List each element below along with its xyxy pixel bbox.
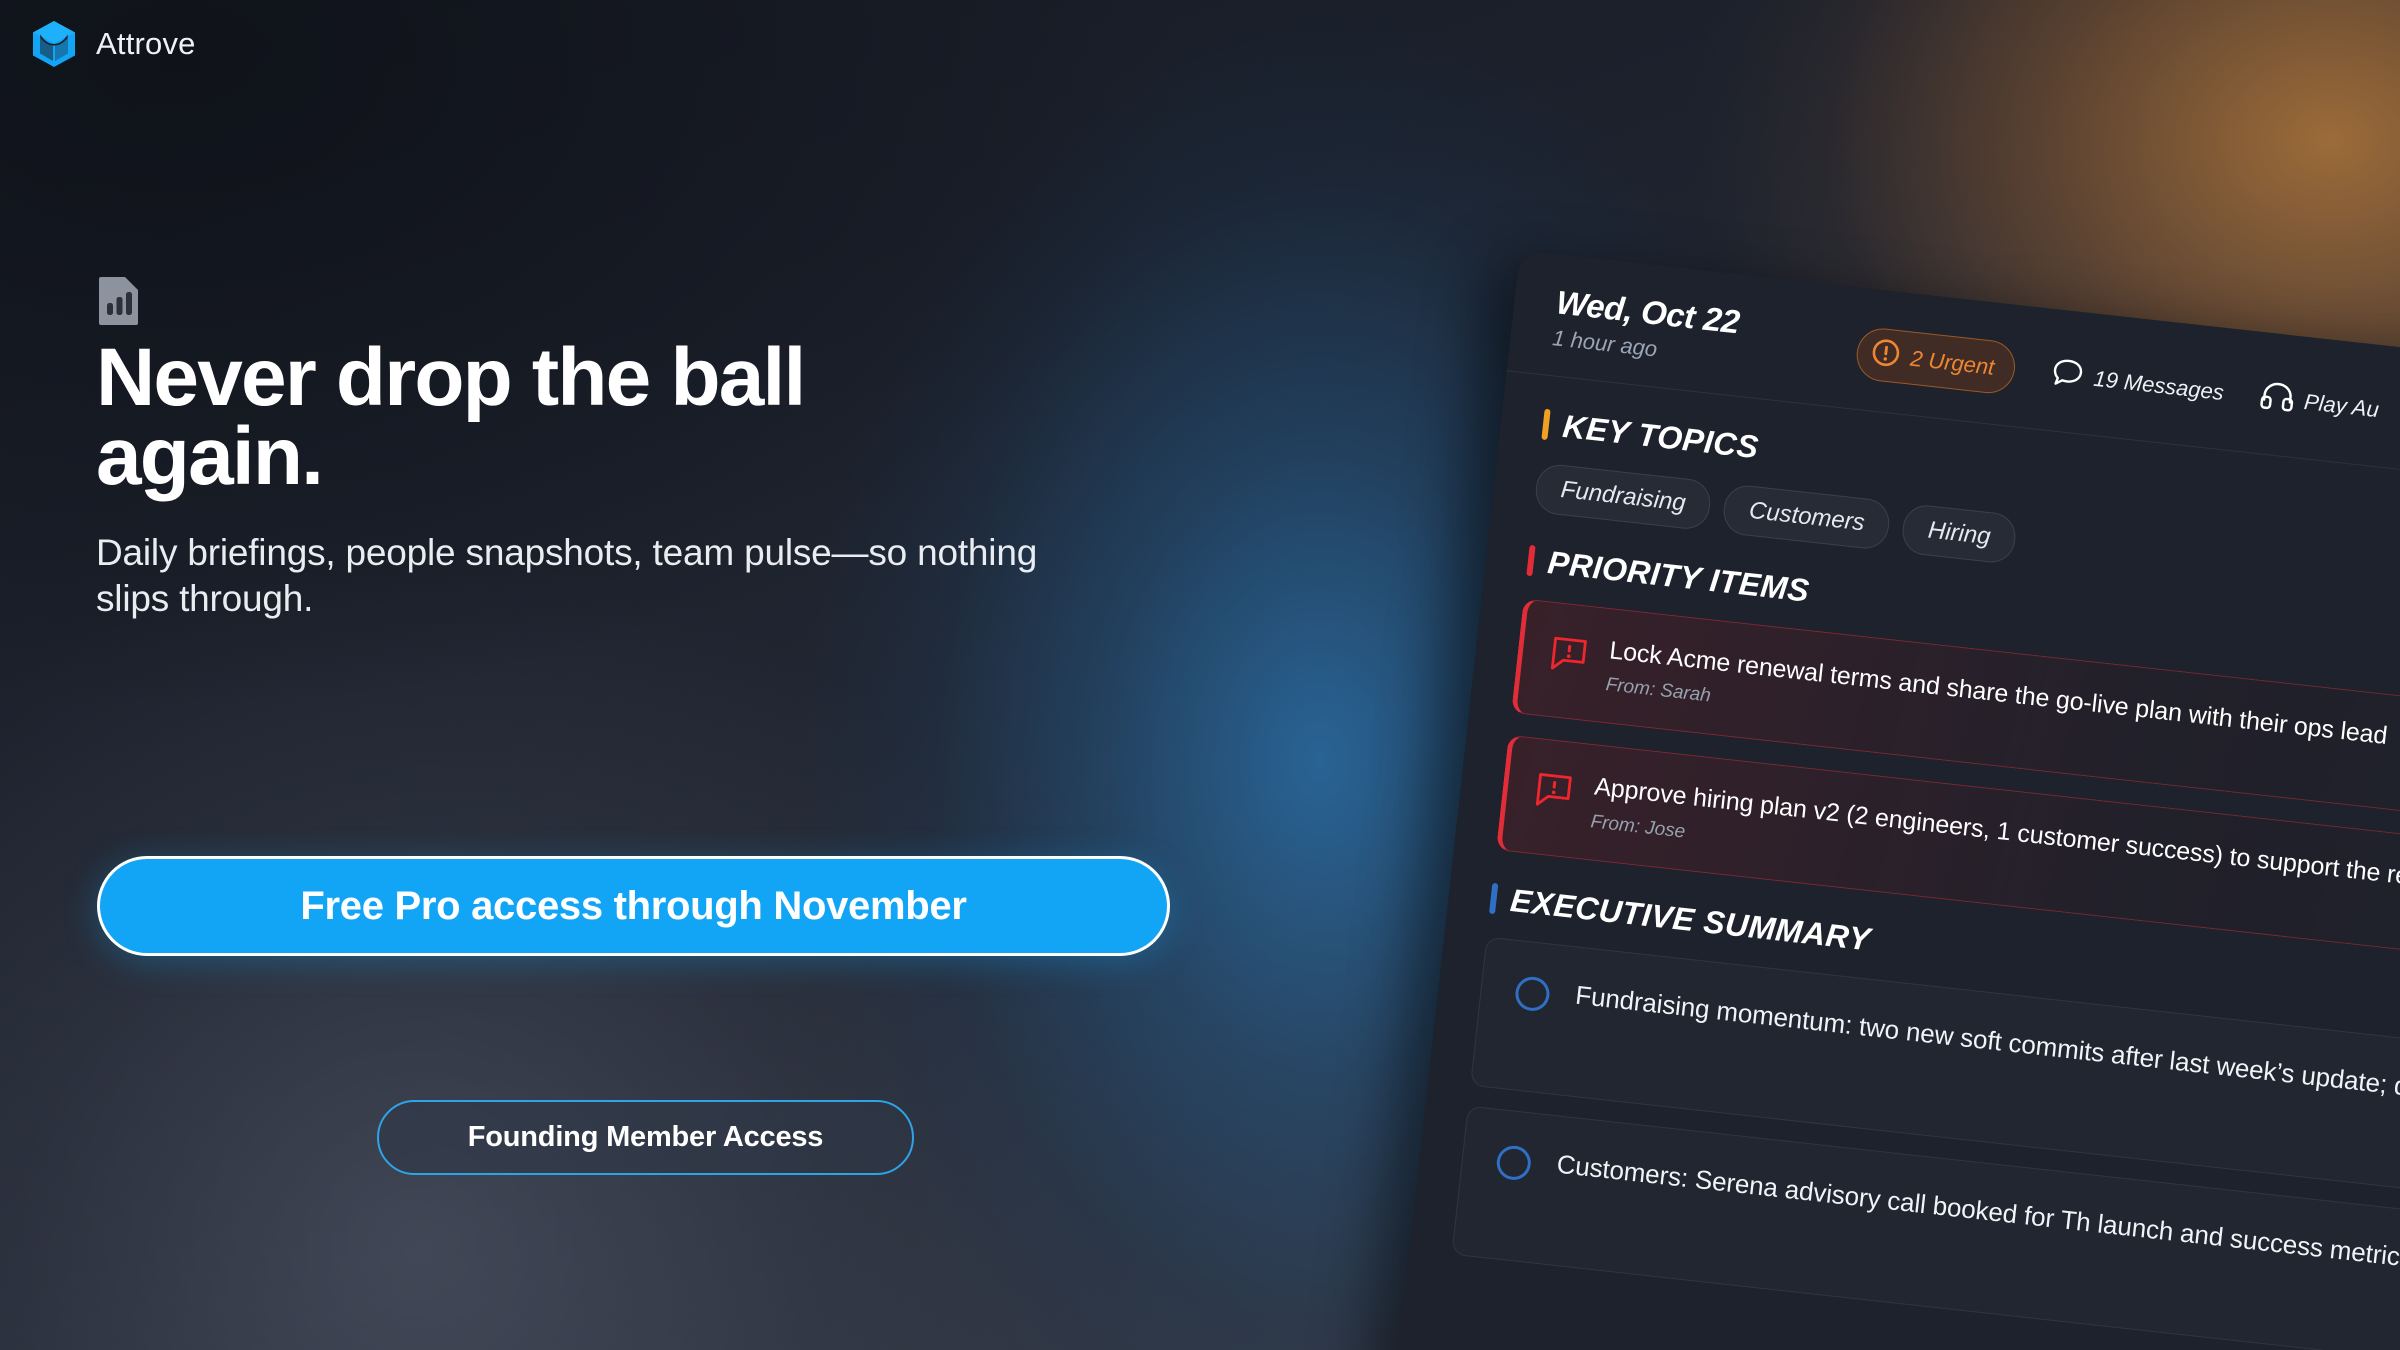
executive-summary-accent-bar xyxy=(1489,882,1498,913)
alert-message-icon xyxy=(1531,765,1576,818)
hero-subheadline: Daily briefings, people snapshots, team … xyxy=(96,530,1086,620)
brand-logo[interactable]: Attrove xyxy=(28,18,196,70)
page-title: Never drop the ball again. xyxy=(96,339,1016,496)
key-topics-accent-bar xyxy=(1541,408,1550,439)
free-pro-access-button[interactable]: Free Pro access through November xyxy=(97,856,1170,956)
headphones-icon xyxy=(2257,378,2297,419)
priority-items-accent-bar xyxy=(1526,544,1535,575)
landing-page-stage: Attrove Never drop the ball again. Daily… xyxy=(0,0,2400,1350)
topic-chip[interactable]: Hiring xyxy=(1901,503,2018,565)
messages-stat[interactable]: 19 Messages xyxy=(2049,355,2226,411)
urgent-count-label: 2 Urgent xyxy=(1909,345,1996,380)
alert-circle-icon xyxy=(1869,336,1903,374)
hero-section: Never drop the ball again. Daily briefin… xyxy=(96,275,1176,621)
urgent-status-badge[interactable]: 2 Urgent xyxy=(1854,326,2018,396)
messages-count-label: 19 Messages xyxy=(2092,365,2225,405)
attrove-cube-logo-icon xyxy=(28,18,80,70)
founding-member-access-button[interactable]: Founding Member Access xyxy=(377,1100,914,1175)
play-audio-button[interactable]: Play Au xyxy=(2257,378,2380,428)
brand-name: Attrove xyxy=(96,26,196,62)
briefing-date-block: Wed, Oct 22 1 hour ago xyxy=(1551,284,1741,370)
briefing-panel-wrapper: Wed, Oct 22 1 hour ago 2 Urgent xyxy=(1383,250,2400,1350)
circle-outline-icon xyxy=(1495,1144,1533,1182)
briefing-header-stats: 2 Urgent 19 Messages xyxy=(1854,326,2382,436)
key-topics-title: KEY TOPICS xyxy=(1561,408,1761,466)
speech-bubble-icon xyxy=(2049,355,2087,396)
report-chart-document-icon xyxy=(96,275,1176,325)
play-audio-label: Play Au xyxy=(2303,389,2380,423)
circle-outline-icon xyxy=(1514,975,1552,1013)
alert-message-icon xyxy=(1546,628,1591,681)
topic-chip[interactable]: Customers xyxy=(1722,483,1893,551)
priority-items-title: PRIORITY ITEMS xyxy=(1546,544,1811,610)
daily-briefing-panel: Wed, Oct 22 1 hour ago 2 Urgent xyxy=(1383,250,2400,1350)
topic-chip[interactable]: Fundraising xyxy=(1533,462,1713,531)
